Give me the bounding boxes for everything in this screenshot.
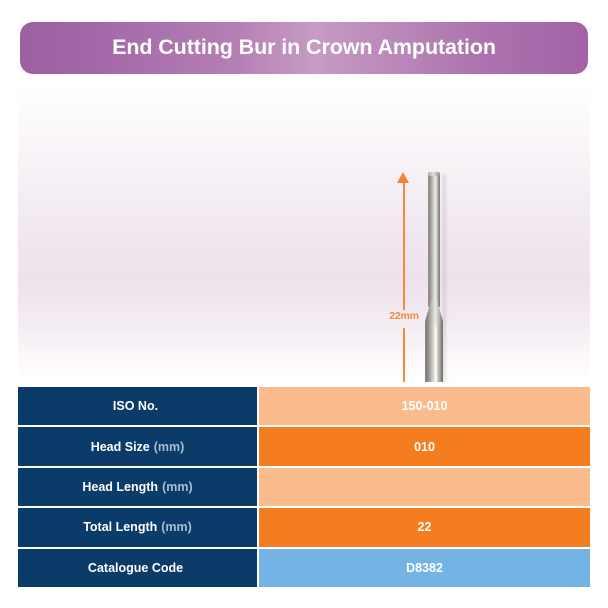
header-banner: End Cutting Bur in Crown Amputation [20, 22, 588, 74]
spec-label-text: Catalogue Code [88, 561, 183, 575]
spec-label-cell: Total Length (mm) [18, 508, 257, 546]
spec-label-text: Head Size [91, 440, 150, 454]
table-row: Catalogue Code D8382 [18, 549, 590, 587]
table-row: Head Length (mm) [18, 468, 590, 506]
dimension-line-upper [403, 182, 405, 310]
spec-value-cell: 22 [259, 508, 590, 546]
spec-label-text: ISO No. [113, 399, 158, 413]
spec-value-cell: D8382 [259, 549, 590, 587]
bur-top-cap [428, 172, 440, 176]
spec-value-cell: 150-010 [259, 387, 590, 425]
bur-shank [425, 322, 443, 382]
spec-table: ISO No. 150-010 Head Size (mm) 010 Head … [18, 387, 590, 587]
spec-value-cell: 010 [259, 427, 590, 465]
spec-unit-text: (mm) [161, 520, 192, 534]
spec-label-cell: Head Size (mm) [18, 427, 257, 465]
spec-label-cell: Head Length (mm) [18, 468, 257, 506]
spec-unit-text: (mm) [154, 440, 185, 454]
table-row: Head Size (mm) 010 [18, 427, 590, 465]
bur-neck [428, 173, 440, 307]
bur-drop-shadow [443, 174, 447, 382]
spec-label-text: Total Length [83, 520, 157, 534]
spec-unit-text: (mm) [162, 480, 193, 494]
table-row: ISO No. 150-010 [18, 387, 590, 425]
page-title: End Cutting Bur in Crown Amputation [112, 37, 496, 59]
dimension-line-lower [403, 328, 405, 382]
product-illustration-panel: 22mm [18, 82, 590, 382]
end-cutting-bur-photo [422, 172, 448, 382]
table-row: Total Length (mm) 22 [18, 508, 590, 546]
spec-label-cell: ISO No. [18, 387, 257, 425]
spec-label-text: Head Length [82, 480, 158, 494]
dimension-annotation: 22mm [385, 172, 423, 382]
spec-label-cell: Catalogue Code [18, 549, 257, 587]
spec-value-cell [259, 468, 590, 506]
